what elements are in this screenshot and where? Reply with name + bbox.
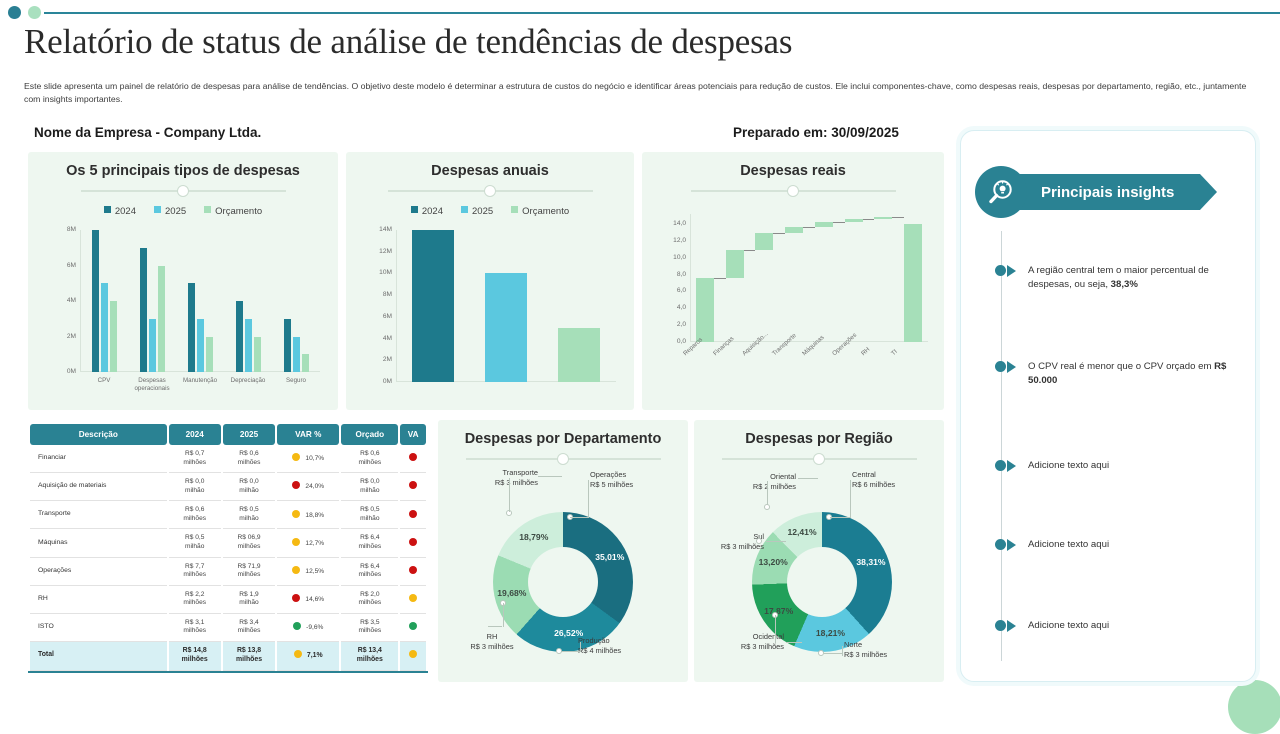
callout-1: ProduçãoR$ 4 milhões [578, 636, 658, 655]
callout-3: TransporteR$ 3 milhões [446, 468, 538, 487]
callout-line [588, 480, 589, 518]
status-dot-va [409, 566, 417, 574]
legend-item-orcamento: Orçamento [204, 206, 262, 217]
insight-text: Adicione texto aqui [1028, 459, 1228, 473]
insight-item-0[interactable]: A região central tem o maior percentual … [995, 264, 1228, 292]
table-row: MáquinasR$ 0,5milhãoR$ 06,9milhões12,7%R… [30, 529, 426, 557]
callout-line [842, 646, 843, 656]
arrow-right-icon [1007, 265, 1016, 277]
slider-knob[interactable] [484, 185, 496, 197]
legend-label-2024: 2024 [422, 206, 443, 217]
callout-line [830, 517, 850, 518]
callout-line [766, 541, 786, 542]
callout-line [562, 651, 580, 652]
slice-pct-4: 12,41% [780, 527, 824, 537]
cell-2024: R$ 3,1milhões [169, 614, 221, 642]
legend-item-2024: 2024 [104, 206, 136, 217]
callout-line [824, 653, 842, 654]
cell-orcado: R$ 0,0milhão [341, 473, 398, 501]
bar-2025-3 [245, 319, 252, 372]
bar-2025-2 [197, 319, 204, 372]
table-header-row: Descrição20242025VAR %OrçadoVA [30, 424, 426, 445]
donut-region: 38,31%18,21%17,87%13,20%12,41%CentralR$ … [694, 420, 944, 682]
legend-swatch-2025 [461, 206, 468, 213]
cell-desc: Transporte [30, 501, 167, 529]
insight-item-3[interactable]: Adicione texto aqui [995, 538, 1228, 552]
table-col-0: Descrição [30, 424, 167, 445]
table-row: TotalR$ 14,8milhõesR$ 13,8milhões7,1%R$ … [30, 642, 426, 671]
cell-2025: R$ 13,8milhões [223, 642, 275, 671]
waterfall-bar-2 [755, 233, 773, 251]
cell-orcado: R$ 3,5milhões [341, 614, 398, 642]
callout-2: OcidentalR$ 3 milhões [706, 632, 784, 651]
arrow-right-icon [1007, 620, 1016, 632]
table-row: OperaçõesR$ 7,7milhõesR$ 71,9milhões12,5… [30, 558, 426, 586]
bar-2025-1 [149, 319, 156, 372]
cell-var: 24,0% [277, 473, 339, 501]
cell-va [400, 445, 426, 473]
card-expenses-by-department: Despesas por Departamento 35,01%26,52%19… [438, 420, 688, 682]
table-col-5: VA [400, 424, 426, 445]
prepared-date: Preparado em: 30/09/2025 [733, 125, 899, 140]
bar-2024-4 [284, 319, 291, 372]
legend-swatch-2024 [411, 206, 418, 213]
slice-pct-2: 17,87% [757, 606, 801, 616]
card-annual-expenses: Despesas anuais 2024 2025 Orçamento 0M2M… [346, 152, 634, 410]
bullet-dot-icon [995, 265, 1006, 276]
expense-table: Descrição20242025VAR %OrçadoVA Financiar… [28, 424, 428, 671]
insight-item-4[interactable]: Adicione texto aqui [995, 619, 1228, 633]
decor-dots [8, 6, 41, 19]
legend-swatch-2025 [154, 206, 161, 213]
cell-desc: Financiar [30, 445, 167, 473]
status-dot-var [292, 566, 300, 574]
chart-title-top-types: Os 5 principais tipos de despesas [28, 163, 338, 179]
callout-line [798, 478, 818, 479]
arrow-right-icon [1007, 460, 1016, 472]
legend-label-2025: 2025 [472, 206, 493, 217]
bullet-dot-icon [995, 361, 1006, 372]
chart-plot-top-types: 0M2M4M6M8MCPVDespesas operacionaisManute… [80, 230, 320, 372]
chart-slider-1[interactable] [81, 185, 286, 197]
callout-dot-3 [756, 538, 762, 544]
callout-line [580, 642, 581, 652]
cell-2024: R$ 0,0milhão [169, 473, 221, 501]
insight-text: O CPV real é menor que o CPV orçado em R… [1028, 360, 1228, 388]
waterfall-bar-6 [874, 217, 892, 219]
insight-item-1[interactable]: O CPV real é menor que o CPV orçado em R… [995, 360, 1228, 388]
status-dot-var [294, 650, 302, 658]
status-dot-var [292, 594, 300, 602]
status-dot-var [293, 622, 301, 630]
callout-4: OrientalR$ 2 milhões [712, 472, 796, 491]
insights-panel: Principais insights A região central tem… [960, 130, 1256, 682]
page-title: Relatório de status de análise de tendên… [24, 22, 792, 62]
legend-item-2025: 2025 [461, 206, 493, 217]
cell-2025: R$ 0,6milhões [223, 445, 275, 473]
slice-pct-3: 13,20% [751, 557, 795, 567]
bar-2024-2 [188, 283, 195, 372]
cell-orcado: R$ 6,4milhões [341, 558, 398, 586]
cell-var: 18,8% [277, 501, 339, 529]
cell-var: 10,7% [277, 445, 339, 473]
top-rule [44, 12, 1280, 14]
slice-pct-0: 35,01% [588, 552, 632, 562]
bar-Orçamento-4 [302, 354, 309, 372]
callout-line [775, 615, 776, 643]
card-top-expense-types: Os 5 principais tipos de despesas 2024 2… [28, 152, 338, 410]
status-dot-va [409, 453, 417, 461]
bar-2024 [412, 230, 454, 382]
cell-desc: RH [30, 586, 167, 614]
bar-2024-0 [92, 230, 99, 372]
callout-2: RHR$ 3 milhões [452, 632, 532, 651]
page-description: Este slide apresenta um painel de relató… [24, 80, 1256, 107]
cell-var: -9,6% [277, 614, 339, 642]
cell-var: 14,6% [277, 586, 339, 614]
cell-2025: R$ 1,9milhão [223, 586, 275, 614]
cell-2024: R$ 0,5milhão [169, 529, 221, 557]
callout-line [850, 480, 851, 518]
bar-Orçamento-0 [110, 301, 117, 372]
bar-Orçamento [558, 328, 600, 382]
cell-2025: R$ 0,5milhão [223, 501, 275, 529]
cell-desc: ISTO [30, 614, 167, 642]
legend-swatch-orcamento [511, 206, 518, 213]
callout-line [488, 626, 502, 627]
bar-2025 [485, 273, 527, 382]
status-dot-var [292, 453, 300, 461]
table-underline [28, 671, 428, 673]
bar-2024-1 [140, 248, 147, 372]
callout-3: SulR$ 3 milhões [702, 532, 764, 551]
cell-va [400, 642, 426, 671]
table-body: FinanciarR$ 0,7milhõesR$ 0,6milhões10,7%… [30, 445, 426, 671]
cell-va [400, 586, 426, 614]
table-row: ISTOR$ 3,1milhõesR$ 3,4milhões-9,6%R$ 3,… [30, 614, 426, 642]
bar-Orçamento-2 [206, 337, 213, 373]
cell-2025: R$ 06,9milhões [223, 529, 275, 557]
table-row: RHR$ 2,2milhõesR$ 1,9milhão14,6%R$ 2,0mi… [30, 586, 426, 614]
insight-text: Adicione texto aqui [1028, 538, 1228, 552]
insight-text: A região central tem o maior percentual … [1028, 264, 1228, 292]
chart-title-annual: Despesas anuais [346, 163, 634, 179]
callout-1: NorteR$ 3 milhões [844, 640, 914, 659]
cell-desc: Total [30, 642, 167, 671]
cell-var: 12,7% [277, 529, 339, 557]
slice-pct-2: 19,68% [490, 588, 534, 598]
bullet-dot-icon [995, 539, 1006, 550]
cell-var: 7,1% [277, 642, 339, 671]
cell-orcado: R$ 0,6milhões [341, 445, 398, 473]
legend-label-orcamento: Orçamento [522, 206, 569, 217]
cell-va [400, 558, 426, 586]
callout-line [570, 517, 588, 518]
cell-2024: R$ 14,8milhões [169, 642, 221, 671]
status-dot-va [409, 650, 417, 658]
cell-orcado: R$ 2,0milhões [341, 586, 398, 614]
legend-label-orcamento: Orçamento [215, 206, 262, 217]
cell-orcado: R$ 6,4milhões [341, 529, 398, 557]
cell-va [400, 473, 426, 501]
corner-decoration [1228, 680, 1280, 734]
cell-va [400, 529, 426, 557]
cell-2024: R$ 2,2milhões [169, 586, 221, 614]
status-dot-va [409, 622, 417, 630]
table-col-1: 2024 [169, 424, 221, 445]
cell-desc: Operações [30, 558, 167, 586]
cell-2025: R$ 3,4milhões [223, 614, 275, 642]
cell-2025: R$ 71,9milhões [223, 558, 275, 586]
legend-item-orcamento: Orçamento [511, 206, 569, 217]
donut-department: 35,01%26,52%19,68%18,79%OperaçõesR$ 5 mi… [438, 420, 688, 682]
legend-label-2025: 2025 [165, 206, 186, 217]
cell-2024: R$ 7,7milhões [169, 558, 221, 586]
insight-text: Adicione texto aqui [1028, 619, 1228, 633]
legend-top-types: 2024 2025 Orçamento [28, 206, 338, 217]
cell-desc: Máquinas [30, 529, 167, 557]
bar-2025-4 [293, 337, 300, 373]
cell-orcado: R$ 13,4milhões [341, 642, 398, 671]
legend-label-2024: 2024 [115, 206, 136, 217]
chart-slider-2[interactable] [388, 185, 593, 197]
insight-item-2[interactable]: Adicione texto aqui [995, 459, 1228, 473]
status-dot-va [409, 538, 417, 546]
slice-pct-0: 38,31% [849, 557, 893, 567]
table-col-3: VAR % [277, 424, 339, 445]
waterfall-bar-3 [785, 227, 803, 233]
table-row: FinanciarR$ 0,7milhõesR$ 0,6milhões10,7%… [30, 445, 426, 473]
callout-line [509, 478, 510, 512]
legend-swatch-2024 [104, 206, 111, 213]
cell-2024: R$ 0,7milhões [169, 445, 221, 473]
slider-knob[interactable] [787, 185, 799, 197]
status-dot-va [409, 510, 417, 518]
arrow-right-icon [1007, 539, 1016, 551]
bullet-dot-icon [995, 460, 1006, 471]
status-dot-va [409, 594, 417, 602]
chart-title-actual: Despesas reais [642, 163, 944, 179]
bar-Orçamento-1 [158, 266, 165, 373]
table-col-2: 2025 [223, 424, 275, 445]
table-row: TransporteR$ 0,6milhõesR$ 0,5milhão18,8%… [30, 501, 426, 529]
slider-knob[interactable] [177, 185, 189, 197]
status-dot-va [409, 481, 417, 489]
table-row: Aquisição de materiaisR$ 0,0milhãoR$ 0,0… [30, 473, 426, 501]
callout-line [538, 476, 562, 477]
cell-orcado: R$ 0,5milhão [341, 501, 398, 529]
decor-dot-green [28, 6, 41, 19]
callout-line [786, 642, 802, 643]
callout-0: CentralR$ 6 milhões [852, 470, 924, 489]
legend-item-2025: 2025 [154, 206, 186, 217]
chart-plot-annual: 0M2M4M6M8M10M12M14M [396, 230, 616, 382]
cell-2025: R$ 0,0milhão [223, 473, 275, 501]
card-expenses-by-region: Despesas por Região 38,31%18,21%17,87%13… [694, 420, 944, 682]
chart-slider-3[interactable] [691, 185, 896, 197]
cell-va [400, 614, 426, 642]
cell-va [400, 501, 426, 529]
status-dot-var [292, 538, 300, 546]
insights-timeline [1001, 231, 1002, 661]
magnifier-lightbulb-icon [975, 166, 1027, 218]
waterfall-bar-5 [845, 219, 863, 222]
bar-2025-0 [101, 283, 108, 372]
decor-dot-teal [8, 6, 21, 19]
status-dot-var [292, 481, 300, 489]
waterfall-bar-4 [815, 222, 833, 226]
legend-swatch-orcamento [204, 206, 211, 213]
slice-pct-3: 18,79% [512, 532, 556, 542]
card-actual-expenses: Despesas reais 0,02,04,06,08,010,012,014… [642, 152, 944, 410]
cell-desc: Aquisição de materiais [30, 473, 167, 501]
slice-pct-1: 18,21% [808, 628, 852, 638]
legend-item-2024: 2024 [411, 206, 443, 217]
waterfall-bar-1 [726, 250, 744, 278]
insights-heading: Principais insights [1011, 174, 1200, 210]
bar-Orçamento-3 [254, 337, 261, 373]
callout-line [503, 603, 504, 627]
table-col-4: Orçado [341, 424, 398, 445]
arrow-right-icon [1007, 361, 1016, 373]
bar-2024-3 [236, 301, 243, 372]
bullet-dot-icon [995, 620, 1006, 631]
callout-0: OperaçõesR$ 5 milhões [590, 470, 670, 489]
cell-2024: R$ 0,6milhões [169, 501, 221, 529]
status-dot-var [292, 510, 300, 518]
cell-var: 12,5% [277, 558, 339, 586]
insights-badge: Principais insights [975, 166, 1200, 218]
legend-annual: 2024 2025 Orçamento [346, 206, 634, 217]
company-name: Nome da Empresa - Company Ltda. [34, 125, 261, 140]
callout-line [767, 481, 768, 505]
chart-plot-actual: 0,02,04,06,08,010,012,014,0ReparosFinanç… [690, 214, 928, 342]
